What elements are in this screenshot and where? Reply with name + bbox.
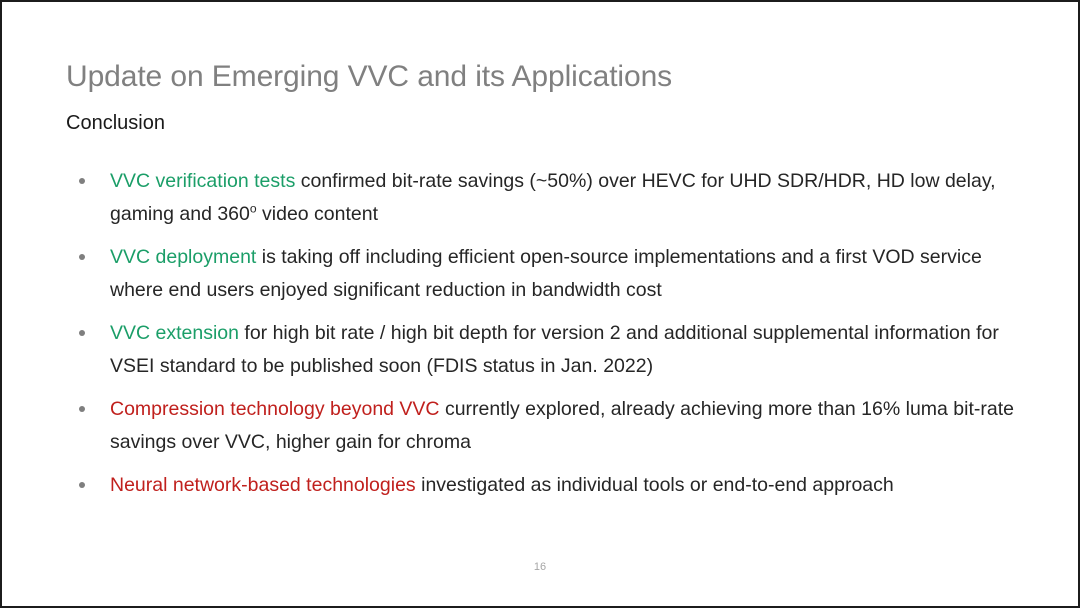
list-item-highlight: Neural network-based technologies — [110, 474, 416, 496]
list-item-body: investigated as individual tools or end-… — [416, 474, 894, 496]
list-item-highlight: VVC deployment — [110, 246, 256, 268]
degree-superscript: o — [250, 202, 257, 216]
conclusion-bullet-list: VVC verification tests confirmed bit-rat… — [66, 165, 1026, 512]
list-item: VVC deployment is taking off including e… — [66, 241, 1026, 307]
presentation-slide: Update on Emerging VVC and its Applicati… — [0, 0, 1080, 608]
list-item-highlight: Compression technology beyond VVC — [110, 398, 440, 420]
list-item: VVC extension for high bit rate / high b… — [66, 317, 1026, 383]
page-title: Update on Emerging VVC and its Applicati… — [66, 58, 672, 96]
list-item-text: VVC deployment is taking off including e… — [110, 241, 1026, 307]
bullet-dot-icon — [79, 330, 85, 336]
page-number: 16 — [2, 561, 1078, 573]
bullet-dot-icon — [79, 254, 85, 260]
list-item-text: VVC verification tests confirmed bit-rat… — [110, 165, 1026, 231]
list-item: Compression technology beyond VVC curren… — [66, 393, 1026, 459]
bullet-dot-icon — [79, 482, 85, 488]
list-item: Neural network-based technologies invest… — [66, 469, 1026, 502]
list-item-text: Compression technology beyond VVC curren… — [110, 393, 1026, 459]
list-item-body: for high bit rate / high bit depth for v… — [110, 322, 999, 377]
list-item-text: Neural network-based technologies invest… — [110, 469, 1026, 502]
list-item-body-tail: video content — [257, 203, 378, 225]
list-item-highlight: VVC verification tests — [110, 170, 295, 192]
list-item-text: VVC extension for high bit rate / high b… — [110, 317, 1026, 383]
bullet-dot-icon — [79, 178, 85, 184]
list-item-highlight: VVC extension — [110, 322, 239, 344]
slide-subtitle: Conclusion — [66, 110, 165, 136]
bullet-dot-icon — [79, 406, 85, 412]
list-item: VVC verification tests confirmed bit-rat… — [66, 165, 1026, 231]
